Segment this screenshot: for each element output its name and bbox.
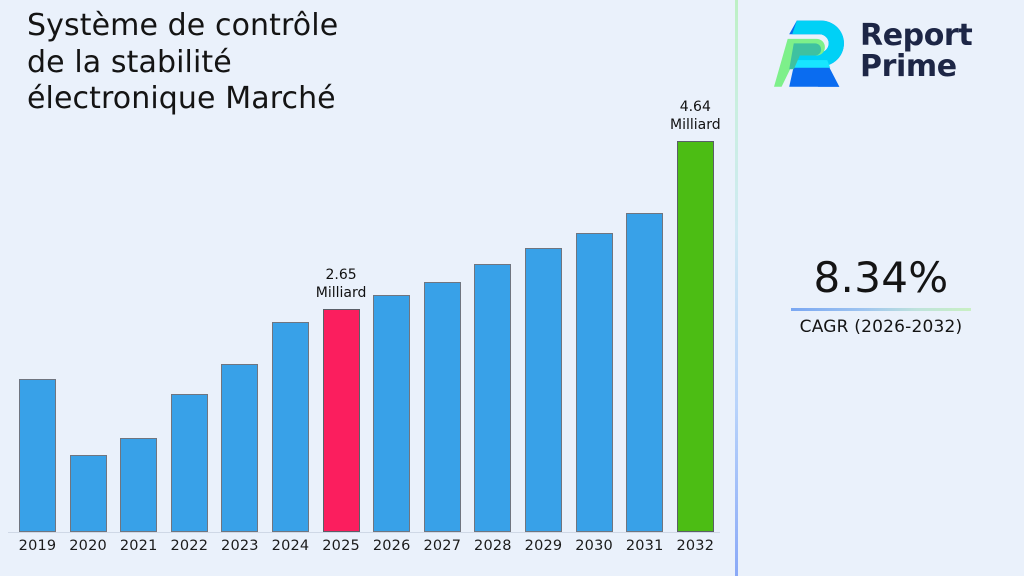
bar-2020[interactable]	[70, 455, 107, 532]
brand-logo[interactable]: Report Prime	[774, 12, 972, 90]
cagr-label: CAGR (2026-2032)	[738, 317, 1024, 337]
x-axis-label-2028: 2028	[468, 538, 517, 554]
cagr-block: 8.34% CAGR (2026-2032)	[738, 255, 1024, 337]
bar-2029[interactable]	[525, 248, 562, 532]
x-axis-label-2024: 2024	[266, 538, 315, 554]
bar-2027[interactable]	[424, 282, 461, 532]
report-prime-logo-icon	[774, 12, 850, 90]
bar-2024[interactable]	[272, 322, 309, 533]
brand-panel: Report Prime 8.34% CAGR (2026-2032)	[738, 0, 1024, 576]
bar-2030[interactable]	[576, 233, 613, 532]
bar-2028[interactable]	[474, 264, 511, 532]
bar-2021[interactable]	[120, 438, 157, 532]
x-axis-label-2027: 2027	[418, 538, 467, 554]
x-axis-line	[8, 532, 720, 533]
bar-2022[interactable]	[171, 394, 208, 532]
x-axis-label-2031: 2031	[620, 538, 669, 554]
x-axis-label-2019: 2019	[13, 538, 62, 554]
x-axis-label-2029: 2029	[519, 538, 568, 554]
cagr-divider	[791, 308, 971, 311]
bar-2019[interactable]	[19, 379, 56, 532]
bar-2031[interactable]	[626, 213, 663, 532]
bar-value-label-2032: 4.64 Milliard	[650, 99, 740, 135]
brand-name: Report Prime	[860, 20, 972, 82]
chart-panel: Système de contrôle de la stabilité élec…	[0, 0, 736, 576]
bar-2025[interactable]	[323, 309, 360, 532]
x-axis-label-2026: 2026	[367, 538, 416, 554]
bar-2026[interactable]	[373, 295, 410, 532]
x-axis-label-2021: 2021	[114, 538, 163, 554]
bar-2023[interactable]	[221, 364, 258, 532]
x-axis-label-2030: 2030	[570, 538, 619, 554]
x-axis-label-2020: 2020	[64, 538, 113, 554]
x-axis-label-2025: 2025	[317, 538, 366, 554]
x-axis-label-2032: 2032	[671, 538, 720, 554]
x-axis-label-2023: 2023	[215, 538, 264, 554]
x-axis-label-2022: 2022	[165, 538, 214, 554]
bar-2032[interactable]	[677, 141, 714, 532]
infographic-canvas: Système de contrôle de la stabilité élec…	[0, 0, 1024, 576]
cagr-value: 8.34%	[738, 255, 1024, 300]
bar-chart: 20192020202120222023202420252.65 Milliar…	[0, 0, 736, 576]
